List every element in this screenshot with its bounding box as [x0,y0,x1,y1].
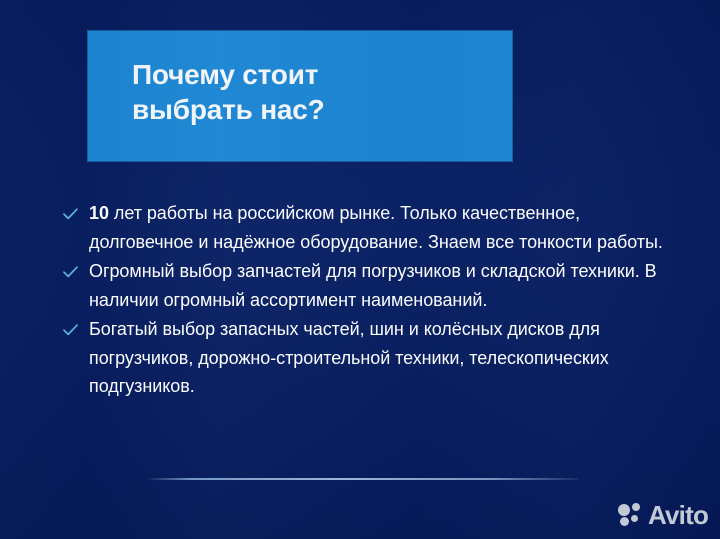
list-item-text: Огромный выбор запчастей для погрузчиков… [89,257,663,314]
benefits-list: 10 лет работы на российском рынке. Тольк… [63,199,663,402]
avito-wordmark: Avito [648,502,708,528]
list-item-body: лет работы на российском рынке. Только к… [89,203,663,252]
divider [148,478,578,480]
check-icon [63,315,89,336]
list-item-body: Богатый выбор запасных частей, шин и кол… [89,319,609,396]
list-item: Богатый выбор запасных частей, шин и кол… [63,315,663,401]
list-item-text: 10 лет работы на российском рынке. Тольк… [89,199,663,256]
list-item-text: Богатый выбор запасных частей, шин и кол… [89,315,663,401]
check-icon [63,257,89,278]
list-item: 10 лет работы на российском рынке. Тольк… [63,199,663,256]
slide-canvas: Почему стоит выбрать нас? 10 лет работы … [0,0,720,539]
list-item-lead: 10 [89,203,109,223]
avito-watermark: Avito [618,499,708,531]
avito-dots-icon [618,502,644,528]
page-title: Почему стоит выбрать нас? [132,57,492,127]
title-banner: Почему стоит выбрать нас? [88,31,512,161]
list-item: Огромный выбор запчастей для погрузчиков… [63,257,663,314]
check-icon [63,199,89,220]
list-item-body: Огромный выбор запчастей для погрузчиков… [89,261,657,310]
